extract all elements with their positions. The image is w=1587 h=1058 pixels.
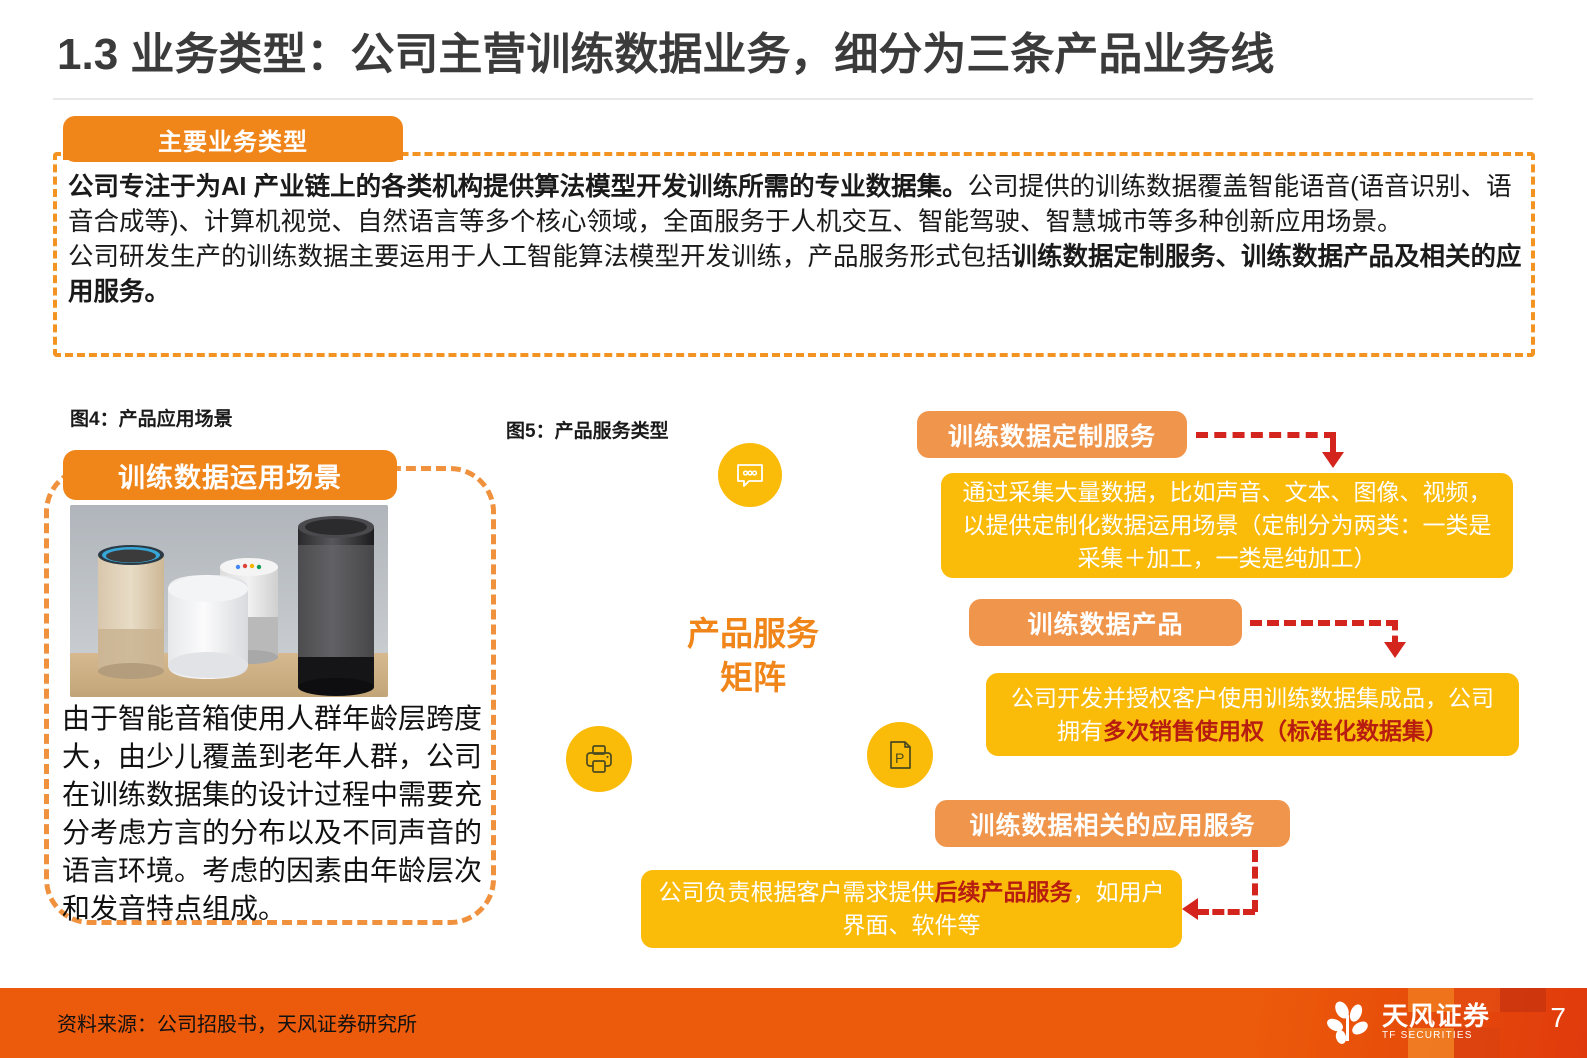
left-panel-body: 由于智能音箱使用人群年龄层跨度大，由少儿覆盖到老年人群，公司在训练数据集的设计过…: [62, 700, 482, 928]
connector-3-horizontal: [1197, 909, 1255, 915]
flow-body-1-text: 通过采集大量数据，比如声音、文本、图像、视频，以提供定制化数据运用场景（定制分为…: [955, 476, 1499, 575]
connector-2-arrowhead: [1384, 642, 1406, 658]
connector-2-horizontal: [1250, 620, 1398, 626]
flow-body-3: 公司负责根据客户需求提供后续产品服务，如用户界面、软件等: [655, 876, 1168, 942]
main-paragraph-1: 公司专注于为AI 产业链上的各类机构提供算法模型开发训练所需的专业数据集。公司提…: [68, 170, 1523, 240]
flow-body-data-product: 公司开发并授权客户使用训练数据集成品，公司拥有多次销售使用权（标准化数据集）: [986, 673, 1519, 756]
connector-3-arrowhead: [1182, 898, 1198, 920]
connector-1-horizontal: [1196, 432, 1336, 438]
main-box-paragraphs: 公司专注于为AI 产业链上的各类机构提供算法模型开发训练所需的专业数据集。公司提…: [68, 170, 1523, 310]
figure-4-caption: 图4：产品应用场景: [70, 404, 233, 431]
smart-speaker-illustration: [70, 505, 388, 697]
matrix-center-line1: 产品服务: [663, 612, 843, 656]
connector-1-arrowhead: [1322, 452, 1344, 468]
printer-icon: [566, 726, 632, 792]
flow-body-custom-service: 通过采集大量数据，比如声音、文本、图像、视频，以提供定制化数据运用场景（定制分为…: [941, 473, 1513, 578]
smart-speaker-photo: [70, 505, 388, 697]
logo-name-cn: 天风证券: [1382, 1003, 1490, 1029]
left-panel-badge: 训练数据运用场景: [63, 450, 397, 500]
matrix-center-line2: 矩阵: [663, 656, 843, 700]
flow-body-2: 公司开发并授权客户使用训练数据集成品，公司拥有多次销售使用权（标准化数据集）: [1000, 682, 1505, 748]
page-number: 7: [1550, 1002, 1566, 1034]
flow-body-3-pre: 公司负责根据客户需求提供: [659, 879, 935, 905]
figure-5-caption: 图5：产品服务类型: [506, 416, 669, 443]
main-paragraph-2: 公司研发生产的训练数据主要运用于人工智能算法模型开发训练，产品服务形式包括训练数…: [68, 240, 1523, 310]
document-p-icon: P: [867, 722, 933, 788]
tf-securities-mark-icon: [1322, 999, 1374, 1045]
chat-bubble-glyph: [733, 458, 767, 492]
connector-3-vertical: [1252, 850, 1258, 912]
footer-bar: 资料来源：公司招股书，天风证券研究所 天风证券 TF SECURITIES 7: [0, 988, 1587, 1058]
flow-tag-data-product: 训练数据产品: [969, 599, 1242, 646]
svg-text:P: P: [895, 750, 904, 766]
chat-bubble-icon: [718, 443, 782, 507]
title-divider: [53, 98, 1533, 100]
document-p-glyph: P: [882, 737, 918, 773]
main-paragraph-1-bold: 公司专注于为AI 产业链上的各类机构提供算法模型开发训练所需的专业数据集。: [68, 173, 968, 201]
page-title: 1.3 业务类型：公司主营训练数据业务，细分为三条产品业务线: [57, 18, 1274, 82]
main-box-label: 主要业务类型: [63, 116, 403, 162]
main-paragraph-2-rest: 公司研发生产的训练数据主要运用于人工智能算法模型开发训练，产品服务形式包括: [68, 243, 1012, 271]
flow-tag-app-service: 训练数据相关的应用服务: [935, 800, 1290, 847]
flow-body-app-service: 公司负责根据客户需求提供后续产品服务，如用户界面、软件等: [641, 870, 1182, 948]
flow-tag-custom-service: 训练数据定制服务: [917, 411, 1187, 458]
flow-body-3-highlight: 后续产品服务: [935, 879, 1073, 905]
source-note: 资料来源：公司招股书，天风证券研究所: [57, 1008, 417, 1037]
flow-body-2-highlight: 多次销售使用权（标准化数据集）: [1103, 718, 1448, 744]
logo-text-block: 天风证券 TF SECURITIES: [1382, 1003, 1490, 1042]
footer-square-3: [1500, 988, 1546, 1012]
matrix-center-label: 产品服务 矩阵: [663, 612, 843, 700]
company-logo: 天风证券 TF SECURITIES: [1322, 999, 1490, 1045]
printer-glyph: [581, 741, 617, 777]
